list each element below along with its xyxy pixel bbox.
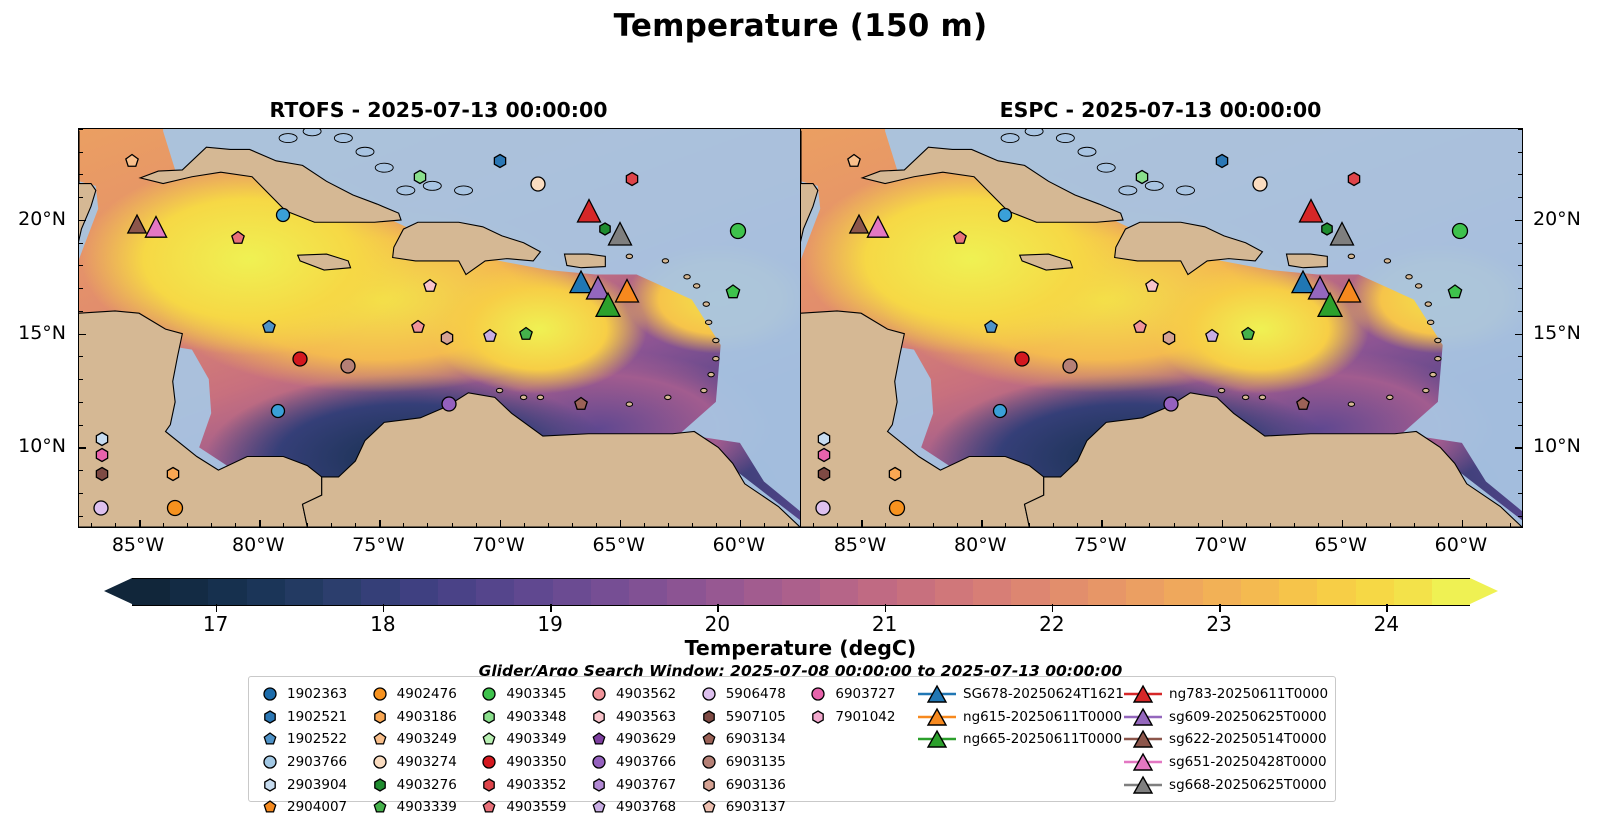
legend-item-label: sg668-20250625T0000 bbox=[1165, 777, 1327, 793]
legend-item-ng783-20250611T0000[interactable]: ng783-20250611T0000 bbox=[1121, 683, 1327, 706]
x-minor-tick bbox=[1414, 523, 1415, 527]
map-marker-6903136[interactable] bbox=[1156, 326, 1181, 351]
y-minor-tick bbox=[1518, 425, 1522, 426]
y-minor-tick bbox=[1518, 379, 1522, 380]
x-minor-tick bbox=[1366, 523, 1367, 527]
circle-marker-icon bbox=[476, 682, 502, 706]
hexagon-marker-icon bbox=[476, 705, 502, 729]
map-marker-4903339[interactable] bbox=[1236, 321, 1261, 346]
x-minor-tick bbox=[427, 523, 428, 527]
map-marker-4903768[interactable] bbox=[477, 323, 502, 348]
map-legend[interactable]: 1902363190252119025222903766290390429040… bbox=[248, 676, 1336, 802]
y-minor-tick bbox=[1518, 516, 1522, 517]
legend-column: 69037277901042 bbox=[805, 683, 915, 797]
pentagon-marker-icon bbox=[586, 795, 612, 819]
legend-item-6903135[interactable]: 6903135 bbox=[696, 751, 806, 774]
x-minor-tick bbox=[644, 523, 645, 527]
y-minor-tick bbox=[1518, 220, 1522, 221]
legend-item-label: 4903562 bbox=[612, 686, 676, 702]
legend-item-2903766[interactable]: 2903766 bbox=[257, 751, 367, 774]
map-marker-1902521[interactable] bbox=[487, 148, 512, 173]
x-tick-label: 80°W bbox=[954, 534, 1006, 556]
legend-item-sg651-20250428T0000[interactable]: sg651-20250428T0000 bbox=[1121, 751, 1327, 774]
x-minor-tick bbox=[1510, 523, 1511, 527]
y-minor-tick bbox=[79, 174, 83, 175]
legend-item-label: 4903768 bbox=[612, 799, 676, 815]
pentagon-marker-icon bbox=[696, 795, 722, 819]
panel-title-rtofs: RTOFS - 2025-07-13 00:00:00 bbox=[78, 98, 799, 122]
legend-item-4903249[interactable]: 4903249 bbox=[367, 728, 477, 751]
hexagon-marker-icon bbox=[805, 705, 831, 729]
map-marker-4902476[interactable] bbox=[884, 494, 911, 521]
legend-column: 4902476490318649032494903274490327649033… bbox=[367, 683, 477, 797]
map-marker-5907105[interactable] bbox=[89, 461, 114, 486]
circle-marker-icon bbox=[367, 682, 393, 706]
pentagon-marker-icon bbox=[696, 727, 722, 751]
x-minor-tick bbox=[764, 523, 765, 527]
map-marker-6903136[interactable] bbox=[434, 326, 459, 351]
x-minor-tick bbox=[1029, 523, 1030, 527]
colorbar-tick-label: 19 bbox=[537, 612, 562, 636]
map-marker-1902521[interactable] bbox=[1209, 148, 1234, 173]
map-marker-1902363[interactable] bbox=[993, 203, 1018, 228]
y-minor-tick bbox=[1518, 470, 1522, 471]
x-tick-label: 65°W bbox=[1315, 534, 1367, 556]
map-marker-4903348[interactable] bbox=[408, 164, 433, 189]
map-marker-4903562[interactable] bbox=[405, 314, 430, 339]
legend-item-label: sg609-20250625T0000 bbox=[1165, 709, 1327, 725]
legend-item-label: 6903727 bbox=[831, 686, 895, 702]
map-marker-6903135[interactable] bbox=[1057, 353, 1083, 379]
legend-item-label: 2903766 bbox=[283, 754, 347, 770]
y-minor-tick bbox=[79, 243, 83, 244]
map-marker-4903350[interactable] bbox=[1009, 346, 1035, 372]
y-minor-tick bbox=[79, 425, 83, 426]
legend-item-label: 6903134 bbox=[722, 731, 786, 747]
legend-item-4903350[interactable]: 4903350 bbox=[476, 751, 586, 774]
map-marker-sg622[interactable] bbox=[121, 209, 153, 241]
legend-item-label: 2903904 bbox=[283, 777, 347, 793]
pentagon-marker-icon bbox=[367, 795, 393, 819]
map-marker-4903350[interactable] bbox=[287, 346, 313, 372]
circle-marker-icon bbox=[586, 750, 612, 774]
x-minor-tick bbox=[379, 523, 380, 527]
legend-item-label: 4903249 bbox=[393, 731, 457, 747]
x-minor-tick bbox=[524, 523, 525, 527]
triangle-marker-icon bbox=[1121, 729, 1165, 749]
x-minor-tick bbox=[355, 523, 356, 527]
y-tick-label: 10°N bbox=[18, 435, 66, 457]
legend-item-4903186[interactable]: 4903186 bbox=[367, 706, 477, 729]
x-minor-tick bbox=[596, 523, 597, 527]
legend-item-4903276[interactable]: 4903276 bbox=[367, 773, 477, 796]
triangle-marker-icon bbox=[1121, 707, 1165, 727]
y-minor-tick bbox=[79, 447, 83, 448]
legend-item-label: ng783-20250611T0000 bbox=[1165, 686, 1328, 702]
legend-item-4903349[interactable]: 4903349 bbox=[476, 728, 586, 751]
x-minor-tick bbox=[788, 523, 789, 527]
colorbar-tick-label: 21 bbox=[872, 612, 897, 636]
legend-item-label: 4903767 bbox=[612, 777, 676, 793]
x-tick-label: 60°W bbox=[713, 534, 765, 556]
x-minor-tick bbox=[740, 523, 741, 527]
map-marker-4902476[interactable] bbox=[162, 494, 189, 521]
legend-item-label: 4903339 bbox=[393, 799, 457, 815]
map-marker-1902363[interactable] bbox=[271, 203, 296, 228]
map-marker-6903134[interactable] bbox=[1291, 392, 1316, 417]
y-minor-tick bbox=[79, 220, 83, 221]
hexagon-marker-icon bbox=[586, 773, 612, 797]
y-minor-tick bbox=[79, 288, 83, 289]
map-marker-sg668[interactable] bbox=[1323, 216, 1360, 253]
x-minor-tick bbox=[1005, 523, 1006, 527]
x-minor-tick bbox=[572, 523, 573, 527]
legend-item-4902476[interactable]: 4902476 bbox=[367, 683, 477, 706]
x-tick-label: 75°W bbox=[1074, 534, 1126, 556]
circle-marker-icon bbox=[476, 750, 502, 774]
x-tick-label: 60°W bbox=[1435, 534, 1487, 556]
legend-item-4903348[interactable]: 4903348 bbox=[476, 706, 586, 729]
map-marker-4903349[interactable] bbox=[720, 279, 746, 305]
legend-item-label: ng615-20250611T0000 bbox=[959, 709, 1122, 725]
x-minor-tick bbox=[692, 523, 693, 527]
legend-item-label: sg651-20250428T0000 bbox=[1165, 754, 1327, 770]
circle-marker-icon bbox=[257, 682, 283, 706]
x-tick-label: 65°W bbox=[593, 534, 645, 556]
x-minor-tick bbox=[139, 523, 140, 527]
legend-item-label: ng665-20250611T0000 bbox=[959, 731, 1122, 747]
circle-marker-icon bbox=[696, 750, 722, 774]
circle-marker-icon bbox=[257, 750, 283, 774]
legend-item-6903727[interactable]: 6903727 bbox=[805, 683, 915, 706]
legend-item-label: 1902522 bbox=[283, 731, 347, 747]
map-panel-rtofs[interactable] bbox=[78, 128, 801, 528]
colorbar-tick bbox=[550, 604, 552, 612]
colorbar-extend-max-arrow bbox=[1470, 578, 1498, 604]
legend-item-label: SG678-20250624T1621 bbox=[959, 686, 1124, 702]
legend-item-label: 4903629 bbox=[612, 731, 676, 747]
map-marker-4903249[interactable] bbox=[119, 148, 144, 173]
map-marker-4903348[interactable] bbox=[1130, 164, 1155, 189]
x-minor-tick bbox=[668, 523, 669, 527]
legend-item-4903768[interactable]: 4903768 bbox=[586, 796, 696, 819]
legend-item-label: 4903352 bbox=[502, 777, 566, 793]
map-marker-4903766[interactable] bbox=[436, 391, 462, 417]
legend-item-label: 4903348 bbox=[502, 709, 566, 725]
circle-marker-icon bbox=[586, 682, 612, 706]
legend-column: 5906478590710569031346903135690313669031… bbox=[696, 683, 806, 797]
colorbar-tick-label: 23 bbox=[1206, 612, 1231, 636]
circle-marker-icon bbox=[805, 682, 831, 706]
colorbar-tick bbox=[885, 604, 887, 612]
legend-item-4903274[interactable]: 4903274 bbox=[367, 751, 477, 774]
legend-item-7901042[interactable]: 7901042 bbox=[805, 706, 915, 729]
pentagon-marker-icon bbox=[476, 795, 502, 819]
legend-item-sg622-20250514T0000[interactable]: sg622-20250514T0000 bbox=[1121, 728, 1327, 751]
map-marker-ng665[interactable] bbox=[1311, 287, 1349, 325]
legend-item-label: 1902363 bbox=[283, 686, 347, 702]
y-minor-tick bbox=[79, 470, 83, 471]
map-panel-espc[interactable] bbox=[800, 128, 1523, 528]
x-minor-tick bbox=[331, 523, 332, 527]
y-minor-tick bbox=[79, 356, 83, 357]
legend-item-label: 6903137 bbox=[722, 799, 786, 815]
map-marker-4903274[interactable] bbox=[1247, 171, 1273, 197]
map-marker-5906478[interactable] bbox=[810, 495, 836, 521]
legend-item-label: 6903136 bbox=[722, 777, 786, 793]
x-minor-tick bbox=[1342, 523, 1343, 527]
legend-item-4903339[interactable]: 4903339 bbox=[367, 796, 477, 819]
x-tick-label: 85°W bbox=[834, 534, 886, 556]
x-minor-tick bbox=[1294, 523, 1295, 527]
map-marker-4903186[interactable] bbox=[160, 461, 185, 486]
colorbar: 1718192021222324 bbox=[104, 578, 1498, 604]
legend-item-label: 6903135 bbox=[722, 754, 786, 770]
legend-item-4903345[interactable]: 4903345 bbox=[476, 683, 586, 706]
circle-marker-icon bbox=[696, 682, 722, 706]
y-tick-label: 20°N bbox=[18, 208, 66, 230]
legend-item-1902363[interactable]: 1902363 bbox=[257, 683, 367, 706]
y-minor-tick bbox=[1518, 197, 1522, 198]
legend-item-label: 4903276 bbox=[393, 777, 457, 793]
map-marker-5906478[interactable] bbox=[88, 495, 114, 521]
map-marker-4903559[interactable] bbox=[225, 226, 250, 251]
triangle-marker-icon bbox=[915, 684, 959, 704]
legend-item-label: 4903563 bbox=[612, 709, 676, 725]
y-minor-tick bbox=[79, 493, 83, 494]
legend-item-label: 4903345 bbox=[502, 686, 566, 702]
map-marker-ng665[interactable] bbox=[589, 287, 627, 325]
legend-item-4903767[interactable]: 4903767 bbox=[586, 773, 696, 796]
y-minor-tick bbox=[1518, 447, 1522, 448]
x-minor-tick bbox=[981, 523, 982, 527]
legend-item-4903559[interactable]: 4903559 bbox=[476, 796, 586, 819]
map-marker-4903559[interactable] bbox=[947, 226, 972, 251]
legend-column: ng783-20250611T0000sg609-20250625T0000sg… bbox=[1121, 683, 1327, 797]
legend-item-4903766[interactable]: 4903766 bbox=[586, 751, 696, 774]
colorbar-tick bbox=[1219, 604, 1221, 612]
hexagon-marker-icon bbox=[367, 705, 393, 729]
x-minor-tick bbox=[1222, 523, 1223, 527]
colorbar-tick-label: 20 bbox=[705, 612, 730, 636]
legend-item-5907105[interactable]: 5907105 bbox=[696, 706, 806, 729]
colorbar-tick bbox=[1386, 604, 1388, 612]
x-minor-tick bbox=[1390, 523, 1391, 527]
x-minor-tick bbox=[91, 523, 92, 527]
colorbar-tick-label: 22 bbox=[1039, 612, 1064, 636]
legend-item-sg668-20250625T0000[interactable]: sg668-20250625T0000 bbox=[1121, 773, 1327, 796]
y-minor-tick bbox=[1518, 152, 1522, 153]
map-marker-4903274[interactable] bbox=[525, 171, 551, 197]
legend-item-1902522[interactable]: 1902522 bbox=[257, 728, 367, 751]
map-marker-4903766[interactable] bbox=[1158, 391, 1184, 417]
x-minor-tick bbox=[476, 523, 477, 527]
x-minor-tick bbox=[1077, 523, 1078, 527]
legend-column: 4903345490334849033494903350490335249035… bbox=[476, 683, 586, 797]
y-minor-tick bbox=[1518, 402, 1522, 403]
legend-item-6903136[interactable]: 6903136 bbox=[696, 773, 806, 796]
legend-item-1902521[interactable]: 1902521 bbox=[257, 706, 367, 729]
x-minor-tick bbox=[283, 523, 284, 527]
x-tick-label: 75°W bbox=[352, 534, 404, 556]
hexagon-marker-icon bbox=[586, 705, 612, 729]
x-minor-tick bbox=[620, 523, 621, 527]
y-tick-label: 15°N bbox=[18, 322, 66, 344]
map-marker-4903352[interactable] bbox=[1341, 167, 1366, 192]
x-minor-tick bbox=[235, 523, 236, 527]
hexagon-marker-icon bbox=[696, 705, 722, 729]
y-tick-label: 10°N bbox=[1533, 435, 1581, 457]
x-minor-tick bbox=[1462, 523, 1463, 527]
hexagon-marker-icon bbox=[257, 773, 283, 797]
y-minor-tick bbox=[79, 152, 83, 153]
triangle-marker-icon bbox=[915, 729, 959, 749]
map-marker-sg622[interactable] bbox=[843, 209, 875, 241]
legend-item-label: 1902521 bbox=[283, 709, 347, 725]
legend-item-label: 7901042 bbox=[831, 709, 895, 725]
map-marker-4903349[interactable] bbox=[1442, 279, 1468, 305]
x-minor-tick bbox=[307, 523, 308, 527]
y-tick-label: 15°N bbox=[1533, 322, 1581, 344]
y-minor-tick bbox=[79, 265, 83, 266]
y-minor-tick bbox=[1518, 311, 1522, 312]
triangle-marker-icon bbox=[1121, 684, 1165, 704]
map-marker-4903345[interactable] bbox=[724, 218, 751, 245]
map-marker-4903768[interactable] bbox=[1199, 323, 1224, 348]
map-marker-4903563[interactable] bbox=[417, 273, 442, 298]
legend-item-4903629[interactable]: 4903629 bbox=[586, 728, 696, 751]
x-minor-tick bbox=[403, 523, 404, 527]
map-marker-1902363b[interactable] bbox=[988, 399, 1013, 424]
legend-item-ng665-20250611T0000[interactable]: ng665-20250611T0000 bbox=[915, 728, 1121, 751]
x-minor-tick bbox=[716, 523, 717, 527]
legend-item-label: 4903350 bbox=[502, 754, 566, 770]
x-minor-tick bbox=[500, 523, 501, 527]
x-minor-tick bbox=[1053, 523, 1054, 527]
legend-item-4903352[interactable]: 4903352 bbox=[476, 773, 586, 796]
map-marker-6903135[interactable] bbox=[335, 353, 361, 379]
map-marker-4903563[interactable] bbox=[1139, 273, 1164, 298]
triangle-marker-icon bbox=[1121, 752, 1165, 772]
x-minor-tick bbox=[909, 523, 910, 527]
legend-item-label: 4902476 bbox=[393, 686, 457, 702]
legend-column: 1902363190252119025222903766290390429040… bbox=[257, 683, 367, 797]
map-marker-sg668[interactable] bbox=[601, 216, 638, 253]
hexagon-marker-icon bbox=[696, 773, 722, 797]
hexagon-marker-icon bbox=[367, 773, 393, 797]
map-marker-4903186[interactable] bbox=[882, 461, 907, 486]
y-minor-tick bbox=[1518, 493, 1522, 494]
pentagon-marker-icon bbox=[476, 727, 502, 751]
legend-item-label: 4903349 bbox=[502, 731, 566, 747]
colorbar-extend-min-arrow bbox=[104, 578, 132, 604]
colorbar-tick bbox=[717, 604, 719, 612]
legend-item-label: 4903766 bbox=[612, 754, 676, 770]
x-minor-tick bbox=[1270, 523, 1271, 527]
x-minor-tick bbox=[1101, 523, 1102, 527]
x-minor-tick bbox=[115, 523, 116, 527]
x-minor-tick bbox=[163, 523, 164, 527]
y-minor-tick bbox=[79, 402, 83, 403]
map-marker-1902522[interactable] bbox=[978, 314, 1003, 339]
pentagon-marker-icon bbox=[257, 795, 283, 819]
map-marker-4903249[interactable] bbox=[841, 148, 866, 173]
y-tick-label: 20°N bbox=[1533, 208, 1581, 230]
y-minor-tick bbox=[1518, 288, 1522, 289]
triangle-marker-icon bbox=[1121, 775, 1165, 795]
x-minor-tick bbox=[1486, 523, 1487, 527]
map-marker-4903562[interactable] bbox=[1127, 314, 1152, 339]
hexagon-marker-icon bbox=[476, 773, 502, 797]
x-minor-tick bbox=[1318, 523, 1319, 527]
x-minor-tick bbox=[1149, 523, 1150, 527]
legend-item-5906478[interactable]: 5906478 bbox=[696, 683, 806, 706]
legend-item-4903563[interactable]: 4903563 bbox=[586, 706, 696, 729]
x-minor-tick bbox=[933, 523, 934, 527]
map-marker-4903339[interactable] bbox=[514, 321, 539, 346]
legend-item-label: sg622-20250514T0000 bbox=[1165, 731, 1327, 747]
x-minor-tick bbox=[813, 523, 814, 527]
y-minor-tick bbox=[1518, 174, 1522, 175]
map-marker-4903345[interactable] bbox=[1446, 218, 1473, 245]
x-minor-tick bbox=[187, 523, 188, 527]
colorbar-tick-label: 17 bbox=[203, 612, 228, 636]
legend-item-ng615-20250611T0000[interactable]: ng615-20250611T0000 bbox=[915, 706, 1121, 729]
colorbar-label: Temperature (degC) bbox=[0, 636, 1601, 660]
map-marker-1902363b[interactable] bbox=[266, 399, 291, 424]
colorbar-tick bbox=[216, 604, 218, 612]
legend-item-sg609-20250625T0000[interactable]: sg609-20250625T0000 bbox=[1121, 706, 1327, 729]
x-tick-label: 70°W bbox=[472, 534, 524, 556]
y-minor-tick bbox=[1518, 265, 1522, 266]
x-minor-tick bbox=[452, 523, 453, 527]
legend-item-label: 4903559 bbox=[502, 799, 566, 815]
legend-item-6903134[interactable]: 6903134 bbox=[696, 728, 806, 751]
y-minor-tick bbox=[79, 129, 83, 130]
map-marker-1902522[interactable] bbox=[256, 314, 281, 339]
legend-item-label: 2904007 bbox=[283, 799, 347, 815]
legend-item-2903904[interactable]: 2903904 bbox=[257, 773, 367, 796]
y-minor-tick bbox=[1518, 356, 1522, 357]
y-minor-tick bbox=[1518, 334, 1522, 335]
x-minor-tick bbox=[1438, 523, 1439, 527]
map-marker-6903134[interactable] bbox=[569, 392, 594, 417]
legend-item-label: 5907105 bbox=[722, 709, 786, 725]
legend-item-2904007[interactable]: 2904007 bbox=[257, 796, 367, 819]
pentagon-marker-icon bbox=[367, 727, 393, 751]
x-minor-tick bbox=[211, 523, 212, 527]
x-tick-label: 85°W bbox=[112, 534, 164, 556]
map-marker-4903352[interactable] bbox=[619, 167, 644, 192]
x-minor-tick bbox=[837, 523, 838, 527]
legend-item-label: 5906478 bbox=[722, 686, 786, 702]
x-minor-tick bbox=[1125, 523, 1126, 527]
legend-column: SG678-20250624T1621ng615-20250611T0000ng… bbox=[915, 683, 1121, 797]
pentagon-marker-icon bbox=[586, 727, 612, 751]
legend-item-4903562[interactable]: 4903562 bbox=[586, 683, 696, 706]
x-minor-tick bbox=[548, 523, 549, 527]
legend-column: 4903562490356349036294903766490376749037… bbox=[586, 683, 696, 797]
legend-item-SG678-20250624T1621[interactable]: SG678-20250624T1621 bbox=[915, 683, 1121, 706]
colorbar-gradient bbox=[132, 578, 1470, 606]
legend-item-6903137[interactable]: 6903137 bbox=[696, 796, 806, 819]
x-minor-tick bbox=[957, 523, 958, 527]
figure-title: Temperature (150 m) bbox=[0, 8, 1601, 44]
pentagon-marker-icon bbox=[257, 727, 283, 751]
x-minor-tick bbox=[259, 523, 260, 527]
legend-item-label: 4903186 bbox=[393, 709, 457, 725]
map-marker-5907105[interactable] bbox=[811, 461, 836, 486]
